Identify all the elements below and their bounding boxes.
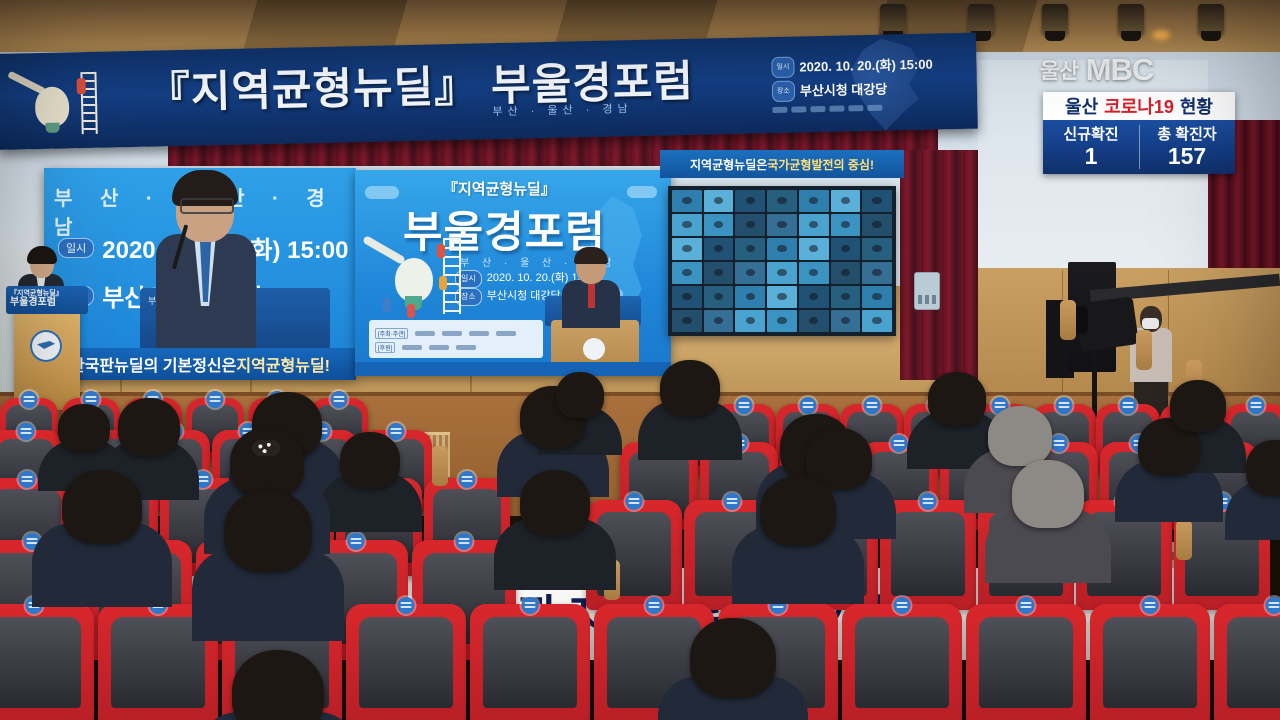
video-participant-tile <box>767 286 797 308</box>
seat-armrest <box>1060 300 1076 340</box>
video-participant-tile <box>704 214 734 236</box>
video-participant-tile <box>672 238 702 260</box>
audience-person-head <box>760 476 836 546</box>
covid-new-cases-label: 신규확진 <box>1063 126 1118 144</box>
video-participant-tile <box>735 214 765 236</box>
lightbulb-base <box>46 123 60 133</box>
seat-number-badge <box>398 597 415 614</box>
broadcast-screenshot: 『지역균형뉴딜』 부울경포럼 부산 · 울산 · 경남 일시 2020. 10.… <box>0 0 1280 720</box>
covid-total-cases-column: 총 확진자 157 <box>1139 120 1235 174</box>
audience-person-head <box>660 360 720 416</box>
video-participant-tile <box>831 214 861 236</box>
seat-cushion <box>979 617 1073 708</box>
video-participant-tile <box>862 310 892 332</box>
projection-screen-center: 『지역균형뉴딜』 부울경포럼 부 산 · 울 산 · 경 남 일시2020. 1… <box>355 170 671 376</box>
banner-sponsor-logos <box>772 104 933 114</box>
mc-hair <box>27 246 57 264</box>
channel-name: MBC <box>1086 52 1154 88</box>
seat-number-badge <box>1266 597 1280 614</box>
seat-cushion <box>0 617 81 708</box>
screen-center-podium-emblem <box>583 338 605 360</box>
video-participant-tile <box>672 310 702 332</box>
channel-region: 울산 <box>1040 55 1079 85</box>
screen-right-caption-highlight: 국가균형발전의 중심! <box>767 156 874 173</box>
covid-status-label: 현황 <box>1180 93 1213 119</box>
seat-number-badge <box>864 397 881 414</box>
video-conference-grid <box>672 190 892 332</box>
covid-total-cases-value: 157 <box>1168 144 1206 168</box>
video-participant-tile <box>672 190 702 212</box>
video-participant-tile <box>799 310 829 332</box>
video-participant-tile <box>704 190 734 212</box>
audience-person-head <box>520 470 590 536</box>
video-participant-tile <box>767 262 797 284</box>
worker-figure <box>407 304 415 318</box>
covid-total-cases-label: 총 확진자 <box>1157 126 1216 144</box>
screen-center-sponsor-bar: [주최·주관] [후원] <box>369 320 543 358</box>
audience-person-head <box>230 428 304 498</box>
podium-sign-main-text: 부울경포럼 <box>10 299 56 307</box>
seat-cushion <box>855 617 949 708</box>
video-participant-tile <box>735 262 765 284</box>
sponsor-support-label: [후원] <box>375 342 395 353</box>
video-participant-tile <box>672 262 702 284</box>
seat-number-badge <box>21 391 38 408</box>
channel-logo: 울산 MBC <box>1040 52 1210 88</box>
seat-cushion <box>359 617 453 708</box>
audience-person-head <box>556 372 604 418</box>
banner-place-label: 장소 <box>772 81 795 102</box>
worker-figure <box>439 276 447 290</box>
seat-number-badge <box>1051 435 1068 452</box>
video-participant-tile <box>672 214 702 236</box>
video-participant-tile <box>862 262 892 284</box>
screen-right-caption-plain: 지역균형뉴딜은 <box>690 156 767 173</box>
worker-figure <box>437 244 445 258</box>
seat-number-badge <box>18 423 35 440</box>
seat-number-badge <box>894 597 911 614</box>
stage-light-icon <box>1198 4 1224 34</box>
video-participant-tile <box>735 238 765 260</box>
audience-seat <box>1090 604 1210 720</box>
seat-number-badge <box>1056 397 1073 414</box>
seat-number-badge <box>19 471 36 488</box>
video-participant-tile <box>767 214 797 236</box>
video-participant-tile <box>767 238 797 260</box>
screen-left-speaker <box>154 170 260 348</box>
worker-figure <box>77 78 86 94</box>
speaker-tie <box>588 282 595 308</box>
seat-number-badge <box>1248 397 1265 414</box>
seat-cushion <box>111 617 205 708</box>
seat-cushion <box>891 512 966 596</box>
video-participant-tile <box>799 214 829 236</box>
audience-seat <box>470 604 590 720</box>
video-participant-tile <box>799 286 829 308</box>
audience-person-head <box>690 618 776 698</box>
seat-cushion <box>1103 617 1197 708</box>
seat-armrest <box>1136 330 1152 370</box>
audience-seat <box>842 604 962 720</box>
video-participant-tile <box>831 310 861 332</box>
video-participant-tile <box>735 190 765 212</box>
screen-center-bottom-strip <box>355 362 671 376</box>
audience-person-head <box>224 490 312 572</box>
seat-number-badge <box>1018 597 1035 614</box>
audience-seat <box>1214 604 1280 720</box>
stage-light-icon <box>968 4 994 34</box>
video-participant-tile <box>704 262 734 284</box>
speaker-hair <box>574 247 608 264</box>
seat-number-badge <box>522 597 539 614</box>
audience-person-head <box>58 404 110 452</box>
covid-new-cases-value: 1 <box>1085 144 1098 168</box>
video-participant-tile <box>767 310 797 332</box>
podium-emblem <box>30 330 62 362</box>
worker-figure <box>383 298 391 312</box>
seat-number-badge <box>891 435 908 452</box>
video-participant-tile <box>704 310 734 332</box>
covid-status-box: 울산 코로나19 현황 신규확진 1 총 확진자 157 <box>1043 92 1235 174</box>
audience-seat <box>0 604 94 720</box>
stage-light-icon <box>1042 4 1068 34</box>
lightbulb-icon <box>35 86 70 127</box>
seat-cushion <box>1227 617 1280 708</box>
seat-armrest <box>432 446 448 486</box>
podium-sign: 『지역균형뉴딜』 부울경포럼 <box>6 286 88 314</box>
video-participant-tile <box>831 286 861 308</box>
covid-box-header: 울산 코로나19 현황 <box>1043 92 1235 120</box>
video-participant-tile <box>862 190 892 212</box>
banner-info: 일시 2020. 10. 20.(화) 15:00 장소 부산시청 대강당 <box>771 54 933 112</box>
sponsor-host-label: [주최·주관] <box>375 328 408 339</box>
projection-screen-right <box>668 186 896 336</box>
illustration-arm <box>362 235 406 265</box>
covid-box-body: 신규확진 1 총 확진자 157 <box>1043 120 1235 174</box>
banner-date-value: 2020. 10. 20.(화) 15:00 <box>799 56 933 76</box>
seat-number-badge <box>207 391 224 408</box>
hair-accessory <box>252 440 280 456</box>
banner-place-row: 장소 부산시청 대강당 <box>772 78 934 103</box>
seat-number-badge <box>456 533 473 550</box>
video-participant-tile <box>799 262 829 284</box>
seat-number-badge <box>459 471 476 488</box>
video-participant-tile <box>735 310 765 332</box>
audience-person-head <box>232 650 324 720</box>
video-participant-tile <box>862 214 892 236</box>
screen-left-caption: 한국판뉴딜의 기본정신은 지역균형뉴딜! <box>44 348 356 380</box>
video-participant-tile <box>704 286 734 308</box>
seat-number-badge <box>1142 597 1159 614</box>
audience-seat <box>966 604 1086 720</box>
banner-illustration <box>6 63 138 146</box>
projection-screen-left: 부 산 · 울 산 · 경 남 일시 2020. 10. 20.(화) 15:0… <box>44 168 356 380</box>
stage-curtain-center <box>900 150 978 380</box>
video-participant-tile <box>831 262 861 284</box>
audience-person-head <box>62 470 142 544</box>
seat-number-badge <box>920 493 937 510</box>
audience-person-head <box>1012 460 1084 528</box>
video-participant-tile <box>862 286 892 308</box>
video-participant-tile <box>799 238 829 260</box>
audience-person-head <box>928 372 986 426</box>
ceiling-beam <box>243 0 408 52</box>
lamp-glow <box>1152 30 1170 40</box>
covid-highlight-label: 코로나19 <box>1104 93 1174 119</box>
seat-armrest <box>1176 520 1192 560</box>
audience-person-head <box>118 398 180 456</box>
banner-date-row: 일시 2020. 10. 20.(화) 15:00 <box>771 54 933 79</box>
sponsor-host-row: [주최·주관] <box>375 328 516 339</box>
cloud-icon <box>627 186 657 198</box>
seat-cushion <box>483 617 577 708</box>
audience-seat <box>346 604 466 720</box>
stage-light-icon <box>1118 4 1144 34</box>
screen-left-caption-highlight: 지역균형뉴딜! <box>236 352 330 376</box>
seat-number-badge <box>348 533 365 550</box>
seat-number-badge <box>626 493 643 510</box>
seat-number-badge <box>331 391 348 408</box>
cloud-icon <box>365 186 399 199</box>
audience-person-head <box>1170 380 1226 432</box>
video-participant-tile <box>799 190 829 212</box>
video-participant-tile <box>831 190 861 212</box>
seat-number-badge <box>800 397 817 414</box>
banner-date-label: 일시 <box>771 57 794 78</box>
screen-center-quote-title: 『지역균형뉴딜』 <box>443 178 556 199</box>
seat-number-badge <box>736 397 753 414</box>
video-participant-tile <box>767 190 797 212</box>
audience-person-head <box>340 432 400 488</box>
camera-tripod <box>1092 344 1097 418</box>
screen-left-caption-plain: 한국판뉴딜의 기본정신은 <box>70 352 236 376</box>
seat-number-badge <box>388 423 405 440</box>
sponsor-support-row: [후원] <box>375 342 476 353</box>
video-participant-tile <box>862 238 892 260</box>
screen-center-illustration <box>361 236 469 322</box>
video-participant-tile <box>831 238 861 260</box>
seat-number-badge <box>646 597 663 614</box>
face-mask-icon <box>1142 318 1159 329</box>
wall-switch-panel <box>914 272 940 310</box>
seat-number-badge <box>724 493 741 510</box>
covid-region-label: 울산 <box>1065 93 1098 119</box>
screen-center-speaker <box>562 250 620 322</box>
banner-place-value: 부산시청 대강당 <box>800 81 888 100</box>
covid-new-cases-column: 신규확진 1 <box>1043 120 1139 174</box>
banner-subtitle: 부산 · 울산 · 경남 <box>492 100 633 119</box>
speaker-glasses <box>180 198 234 214</box>
audience-person-head <box>988 406 1052 466</box>
video-participant-tile <box>735 286 765 308</box>
video-participant-tile <box>672 286 702 308</box>
screen-right-caption: 지역균형뉴딜은 국가균형발전의 중심! <box>660 150 904 178</box>
seat-number-badge <box>1120 397 1137 414</box>
stage-light-icon <box>880 4 906 34</box>
video-participant-tile <box>704 238 734 260</box>
